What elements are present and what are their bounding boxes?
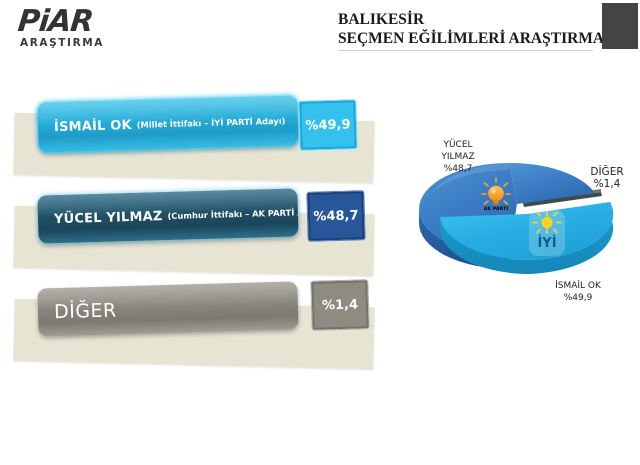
bar-row-ismail-ok: İSMAİL OK (Millet İttifakı – İYİ PARTİ A… <box>0 95 410 199</box>
bar-pill-diger: DİĞER <box>37 281 298 336</box>
bar-label-name: DİĞER <box>54 299 117 323</box>
title-underline <box>338 50 593 51</box>
pie-label-line2: YILMAZ <box>425 151 491 163</box>
bar-label-name: İSMAİL OK <box>54 118 132 135</box>
pie-label-line1: YÜCEL <box>425 139 491 151</box>
logo-wordmark: PiAR <box>17 8 150 36</box>
page-header: PiAR ARAŞTIRMA BALIKESİR SEÇMEN EĞİLİMLE… <box>0 0 640 62</box>
bar-value-box-diger: %1,4 <box>311 280 368 330</box>
bar-label-sub: (Millet İttifakı – İYİ PARTİ Adayı) <box>137 116 286 130</box>
pie-label-value: %49,9 <box>535 292 621 304</box>
bar-value-text: %1,4 <box>322 297 358 313</box>
bar-label-sub: (Cumhur İttifakı – AK PARTİ Adayı) <box>167 207 298 221</box>
bar-value-text: %49,9 <box>305 117 351 133</box>
piar-logo: PiAR ARAŞTIRMA <box>18 8 148 50</box>
title-line-2: SEÇMEN EĞİLİMLERİ ARAŞTIRMASI <box>338 29 596 48</box>
ak-parti-logo-text: AK PARTİ <box>484 205 509 212</box>
page-title: BALIKESİR SEÇMEN EĞİLİMLERİ ARAŞTIRMASI <box>338 10 596 48</box>
bar-value-box-yucel-yilmaz: %48,7 <box>307 191 364 241</box>
bar-chart: İSMAİL OK (Millet İttifakı – İYİ PARTİ A… <box>0 95 410 405</box>
pie-label-value: %1,4 <box>577 178 637 190</box>
pie-chart: AK PARTİ İYİ YÜCEL YILMAZ %48,7 DİĞER <box>405 130 640 325</box>
pie-label-line1: DİĞER <box>577 166 637 178</box>
bar-pill-yucel-yilmaz: YÜCEL YILMAZ (Cumhur İttifakı – AK PARTİ… <box>37 188 298 243</box>
pie-label-line1: İSMAİL OK <box>535 280 621 292</box>
bar-label-name: YÜCEL YILMAZ <box>54 209 163 227</box>
bar-value-text: %48,7 <box>313 208 359 224</box>
pie-label-yucel-yilmaz: YÜCEL YILMAZ %48,7 <box>425 139 491 175</box>
pie-label-ismail-ok: İSMAİL OK %49,9 <box>535 280 621 304</box>
bar-value-box-ismail-ok: %49,9 <box>299 100 356 150</box>
bar-pill-ismail-ok: İSMAİL OK (Millet İttifakı – İYİ PARTİ A… <box>37 95 298 152</box>
pie-label-value: %48,7 <box>425 163 491 175</box>
header-accent-square <box>602 3 638 49</box>
bar-row-diger: DİĞER %1,4 <box>0 281 410 385</box>
bar-row-yucel-yilmaz: YÜCEL YILMAZ (Cumhur İttifakı – AK PARTİ… <box>0 188 410 292</box>
iyi-parti-logo-icon: İYİ <box>529 210 565 256</box>
iyi-parti-logo-text: İYİ <box>537 235 556 251</box>
title-line-1: BALIKESİR <box>338 10 596 29</box>
pie-label-diger: DİĞER %1,4 <box>577 166 637 190</box>
